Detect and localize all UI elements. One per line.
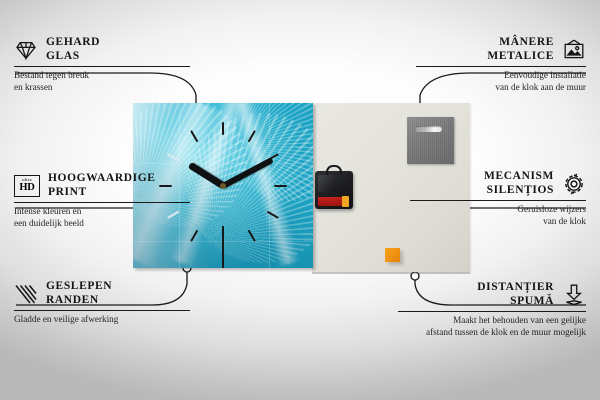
callout-title-line2: SILENȚIOS bbox=[487, 184, 554, 196]
callout-description: Gladde en veilige afwerking bbox=[14, 314, 190, 326]
hanging-picture-icon bbox=[562, 38, 586, 62]
metal-hanger-plate bbox=[407, 117, 454, 164]
gear-icon bbox=[562, 172, 586, 196]
callout-title-line2: METALICE bbox=[487, 50, 554, 62]
mechanism-highlight bbox=[318, 175, 342, 192]
callout-rule bbox=[416, 66, 586, 67]
callout-title-line2: GLAS bbox=[46, 50, 80, 62]
callout-title: GEHARDGLAS bbox=[46, 36, 100, 63]
mechanism-battery bbox=[318, 197, 348, 206]
callout-metal-handles: MÂNEREMETALICE Eenvoudige installatie va… bbox=[416, 36, 586, 93]
mechanism-hanging-loop bbox=[326, 165, 342, 175]
callout-description: Geruisloze wijzers van de klok bbox=[410, 204, 586, 227]
callout-header: GEHARDGLAS bbox=[14, 36, 190, 63]
clock-second-hand bbox=[222, 226, 224, 269]
infographic-canvas: GEHARDGLAS Bestand tegen breuk en krasse… bbox=[0, 0, 600, 400]
callout-rule bbox=[14, 310, 190, 311]
callout-title: HOOGWAARDIGEPRINT bbox=[48, 172, 156, 199]
callout-title-line1: DISTANȚIER bbox=[477, 281, 554, 293]
callout-title: GESLEPENRANDEN bbox=[46, 280, 112, 307]
callout-header: MECANISMSILENȚIOS bbox=[410, 170, 586, 197]
callout-header: MÂNEREMETALICE bbox=[416, 36, 586, 63]
callout-silent-mechanism: MECANISMSILENȚIOS Geruisloze wijzers van… bbox=[410, 170, 586, 227]
down-arrow-plate-icon bbox=[562, 283, 586, 307]
callout-title-line2: SPUMĂ bbox=[510, 295, 554, 307]
callout-foam-spacer: DISTANȚIERSPUMĂ Maakt het behouden van e… bbox=[398, 281, 586, 338]
callout-rule bbox=[410, 200, 586, 201]
callout-title-line1: GEHARD bbox=[46, 36, 100, 48]
callout-tempered-glass: GEHARDGLAS Bestand tegen breuk en krasse… bbox=[14, 36, 190, 93]
diagonal-lines-icon bbox=[14, 282, 38, 306]
callout-description: Maakt het behouden van een gelijke afsta… bbox=[398, 315, 586, 338]
callout-description: Intense kleuren en een duidelijk beeld bbox=[14, 206, 190, 229]
callout-rule bbox=[398, 311, 586, 312]
callout-rule bbox=[14, 66, 190, 67]
ultra-hd-icon-large-text: HD bbox=[19, 183, 34, 194]
callout-polished-edges: GESLEPENRANDEN Gladde en veilige afwerki… bbox=[14, 280, 190, 326]
callout-title: MECANISMSILENȚIOS bbox=[484, 170, 554, 197]
callout-rule bbox=[14, 202, 190, 203]
callout-header: DISTANȚIERSPUMĂ bbox=[398, 281, 586, 308]
callout-description: Bestand tegen breuk en krassen bbox=[14, 70, 190, 93]
callout-header: GESLEPENRANDEN bbox=[14, 280, 190, 307]
callout-title-line2: PRINT bbox=[48, 186, 87, 198]
callout-title-line2: RANDEN bbox=[46, 294, 99, 306]
callout-title-line1: GESLEPEN bbox=[46, 280, 112, 292]
callout-high-quality-print: ultra HD HOOGWAARDIGEPRINT Intense kleur… bbox=[14, 172, 190, 229]
clock-center-cap bbox=[220, 183, 226, 189]
callout-title-line1: MÂNERE bbox=[499, 36, 554, 48]
diamond-icon bbox=[14, 38, 38, 62]
callout-title: DISTANȚIERSPUMĂ bbox=[477, 281, 554, 308]
foam-spacer-part bbox=[385, 248, 400, 262]
ultra-hd-icon: ultra HD bbox=[14, 175, 40, 197]
callout-header: ultra HD HOOGWAARDIGEPRINT bbox=[14, 172, 190, 199]
callout-title-line1: MECANISM bbox=[484, 170, 554, 182]
callout-description: Eenvoudige installatie van de klok aan d… bbox=[416, 70, 586, 93]
callout-title-line1: HOOGWAARDIGE bbox=[48, 172, 156, 184]
hanger-plate-slot bbox=[415, 126, 442, 132]
callout-title: MÂNEREMETALICE bbox=[487, 36, 554, 63]
clock-mechanism bbox=[315, 171, 353, 209]
